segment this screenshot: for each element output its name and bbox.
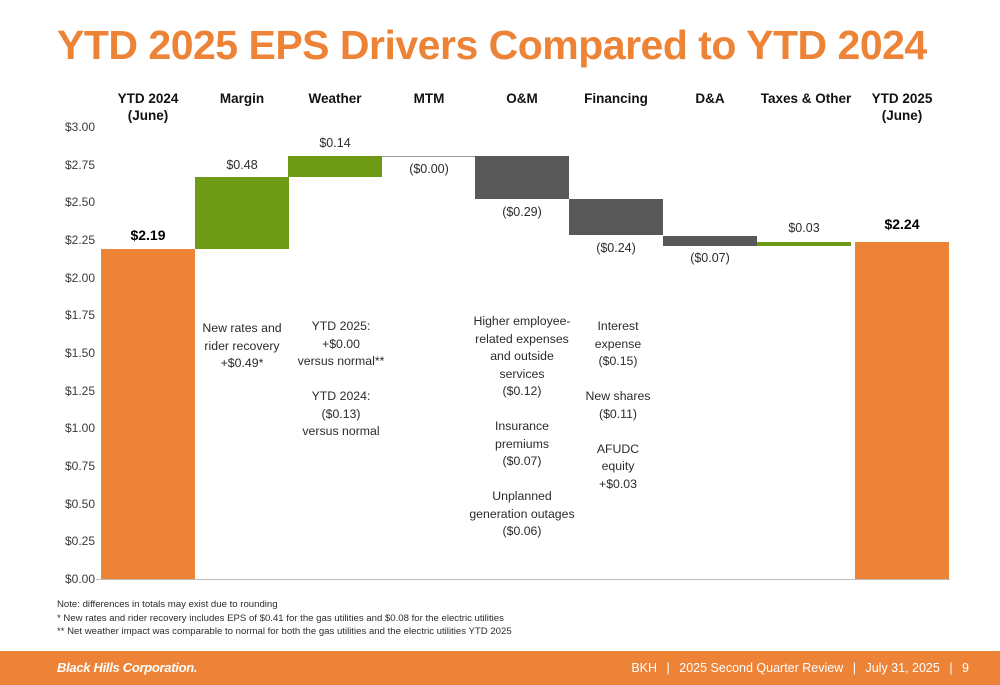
bar-mtm[interactable] bbox=[382, 156, 476, 157]
column-header-line2: (June) bbox=[101, 107, 195, 124]
bar-label-ytd-2025: $2.24 bbox=[855, 216, 949, 232]
y-tick: $0.25 bbox=[43, 534, 95, 548]
footer-separator-1: | bbox=[664, 661, 673, 675]
footnotes: Note: differences in totals may exist du… bbox=[57, 598, 697, 639]
company-logo: Black Hills Corporation. bbox=[57, 660, 197, 675]
y-tick: $0.75 bbox=[43, 459, 95, 473]
bar-label-ytd-2024: $2.19 bbox=[101, 227, 195, 243]
waterfall-chart: $3.00 $2.75 $2.50 $2.25 $2.00 $1.75 $1.5… bbox=[0, 0, 1000, 685]
bar-taxes-other[interactable] bbox=[757, 242, 851, 247]
bar-label-weather: $0.14 bbox=[288, 136, 382, 150]
annotation-weather: YTD 2025: +$0.00 versus normal** YTD 202… bbox=[285, 318, 397, 441]
y-tick: $0.00 bbox=[43, 572, 95, 586]
column-header-line2: (June) bbox=[855, 107, 949, 124]
bar-ytd-2025[interactable] bbox=[855, 242, 949, 580]
column-header-line1: O&M bbox=[475, 90, 569, 107]
bar-label-om: ($0.29) bbox=[475, 205, 569, 219]
footer-date: July 31, 2025 bbox=[862, 661, 942, 675]
bar-label-financing: ($0.24) bbox=[569, 241, 663, 255]
footnote-single-asterisk: * New rates and rider recovery includes … bbox=[57, 612, 697, 626]
column-header-margin: Margin bbox=[195, 90, 289, 107]
bar-label-da: ($0.07) bbox=[663, 251, 757, 265]
column-header-taxes-other: Taxes & Other bbox=[756, 90, 856, 107]
column-header-line1: Weather bbox=[288, 90, 382, 107]
column-header-line1: MTM bbox=[382, 90, 476, 107]
footnote-rounding: Note: differences in totals may exist du… bbox=[57, 598, 697, 612]
y-tick: $2.00 bbox=[43, 271, 95, 285]
y-tick: $2.50 bbox=[43, 195, 95, 209]
column-header-om: O&M bbox=[475, 90, 569, 107]
annotation-margin: New rates and rider recovery +$0.49* bbox=[190, 320, 294, 373]
footer-meta: BKH | 2025 Second Quarter Review | July … bbox=[628, 661, 972, 675]
y-tick: $1.75 bbox=[43, 308, 95, 322]
bar-ytd-2024[interactable] bbox=[101, 249, 195, 579]
column-header-line1: Financing bbox=[569, 90, 663, 107]
bar-da[interactable] bbox=[663, 236, 757, 247]
column-header-line1: Margin bbox=[195, 90, 289, 107]
y-tick: $0.50 bbox=[43, 497, 95, 511]
annotation-financing: Interest expense ($0.15) New shares ($0.… bbox=[574, 318, 662, 493]
footer-bar: Black Hills Corporation. BKH | 2025 Seco… bbox=[0, 651, 1000, 685]
footer-separator-2: | bbox=[850, 661, 859, 675]
footer-ticker: BKH bbox=[628, 661, 660, 675]
bar-label-taxes-other: $0.03 bbox=[757, 221, 851, 235]
y-axis: $3.00 $2.75 $2.50 $2.25 $2.00 $1.75 $1.5… bbox=[43, 0, 95, 685]
footer-separator-3: | bbox=[946, 661, 955, 675]
column-header-weather: Weather bbox=[288, 90, 382, 107]
column-header-line1: D&A bbox=[663, 90, 757, 107]
bar-label-margin: $0.48 bbox=[195, 158, 289, 172]
bar-label-mtm: ($0.00) bbox=[382, 162, 476, 176]
y-tick: $2.25 bbox=[43, 233, 95, 247]
column-header-mtm: MTM bbox=[382, 90, 476, 107]
column-header-financing: Financing bbox=[569, 90, 663, 107]
column-header-line1: YTD 2024 bbox=[101, 90, 195, 107]
y-tick: $1.50 bbox=[43, 346, 95, 360]
footer-event: 2025 Second Quarter Review bbox=[676, 661, 846, 675]
y-tick: $1.25 bbox=[43, 384, 95, 398]
bar-weather[interactable] bbox=[288, 156, 382, 177]
footnote-double-asterisk: ** Net weather impact was comparable to … bbox=[57, 625, 697, 639]
axis-baseline bbox=[96, 579, 950, 580]
slide: YTD 2025 EPS Drivers Compared to YTD 202… bbox=[0, 0, 1000, 685]
column-header-ytd-2025: YTD 2025 (June) bbox=[855, 90, 949, 124]
bar-financing[interactable] bbox=[569, 199, 663, 235]
column-header-ytd-2024: YTD 2024 (June) bbox=[101, 90, 195, 124]
y-tick: $2.75 bbox=[43, 158, 95, 172]
column-header-da: D&A bbox=[663, 90, 757, 107]
bar-margin[interactable] bbox=[195, 177, 289, 249]
column-header-line1: Taxes & Other bbox=[756, 90, 856, 107]
bar-om[interactable] bbox=[475, 156, 569, 200]
y-tick: $1.00 bbox=[43, 421, 95, 435]
y-tick: $3.00 bbox=[43, 120, 95, 134]
footer-page-number: 9 bbox=[959, 661, 972, 675]
column-header-line1: YTD 2025 bbox=[855, 90, 949, 107]
